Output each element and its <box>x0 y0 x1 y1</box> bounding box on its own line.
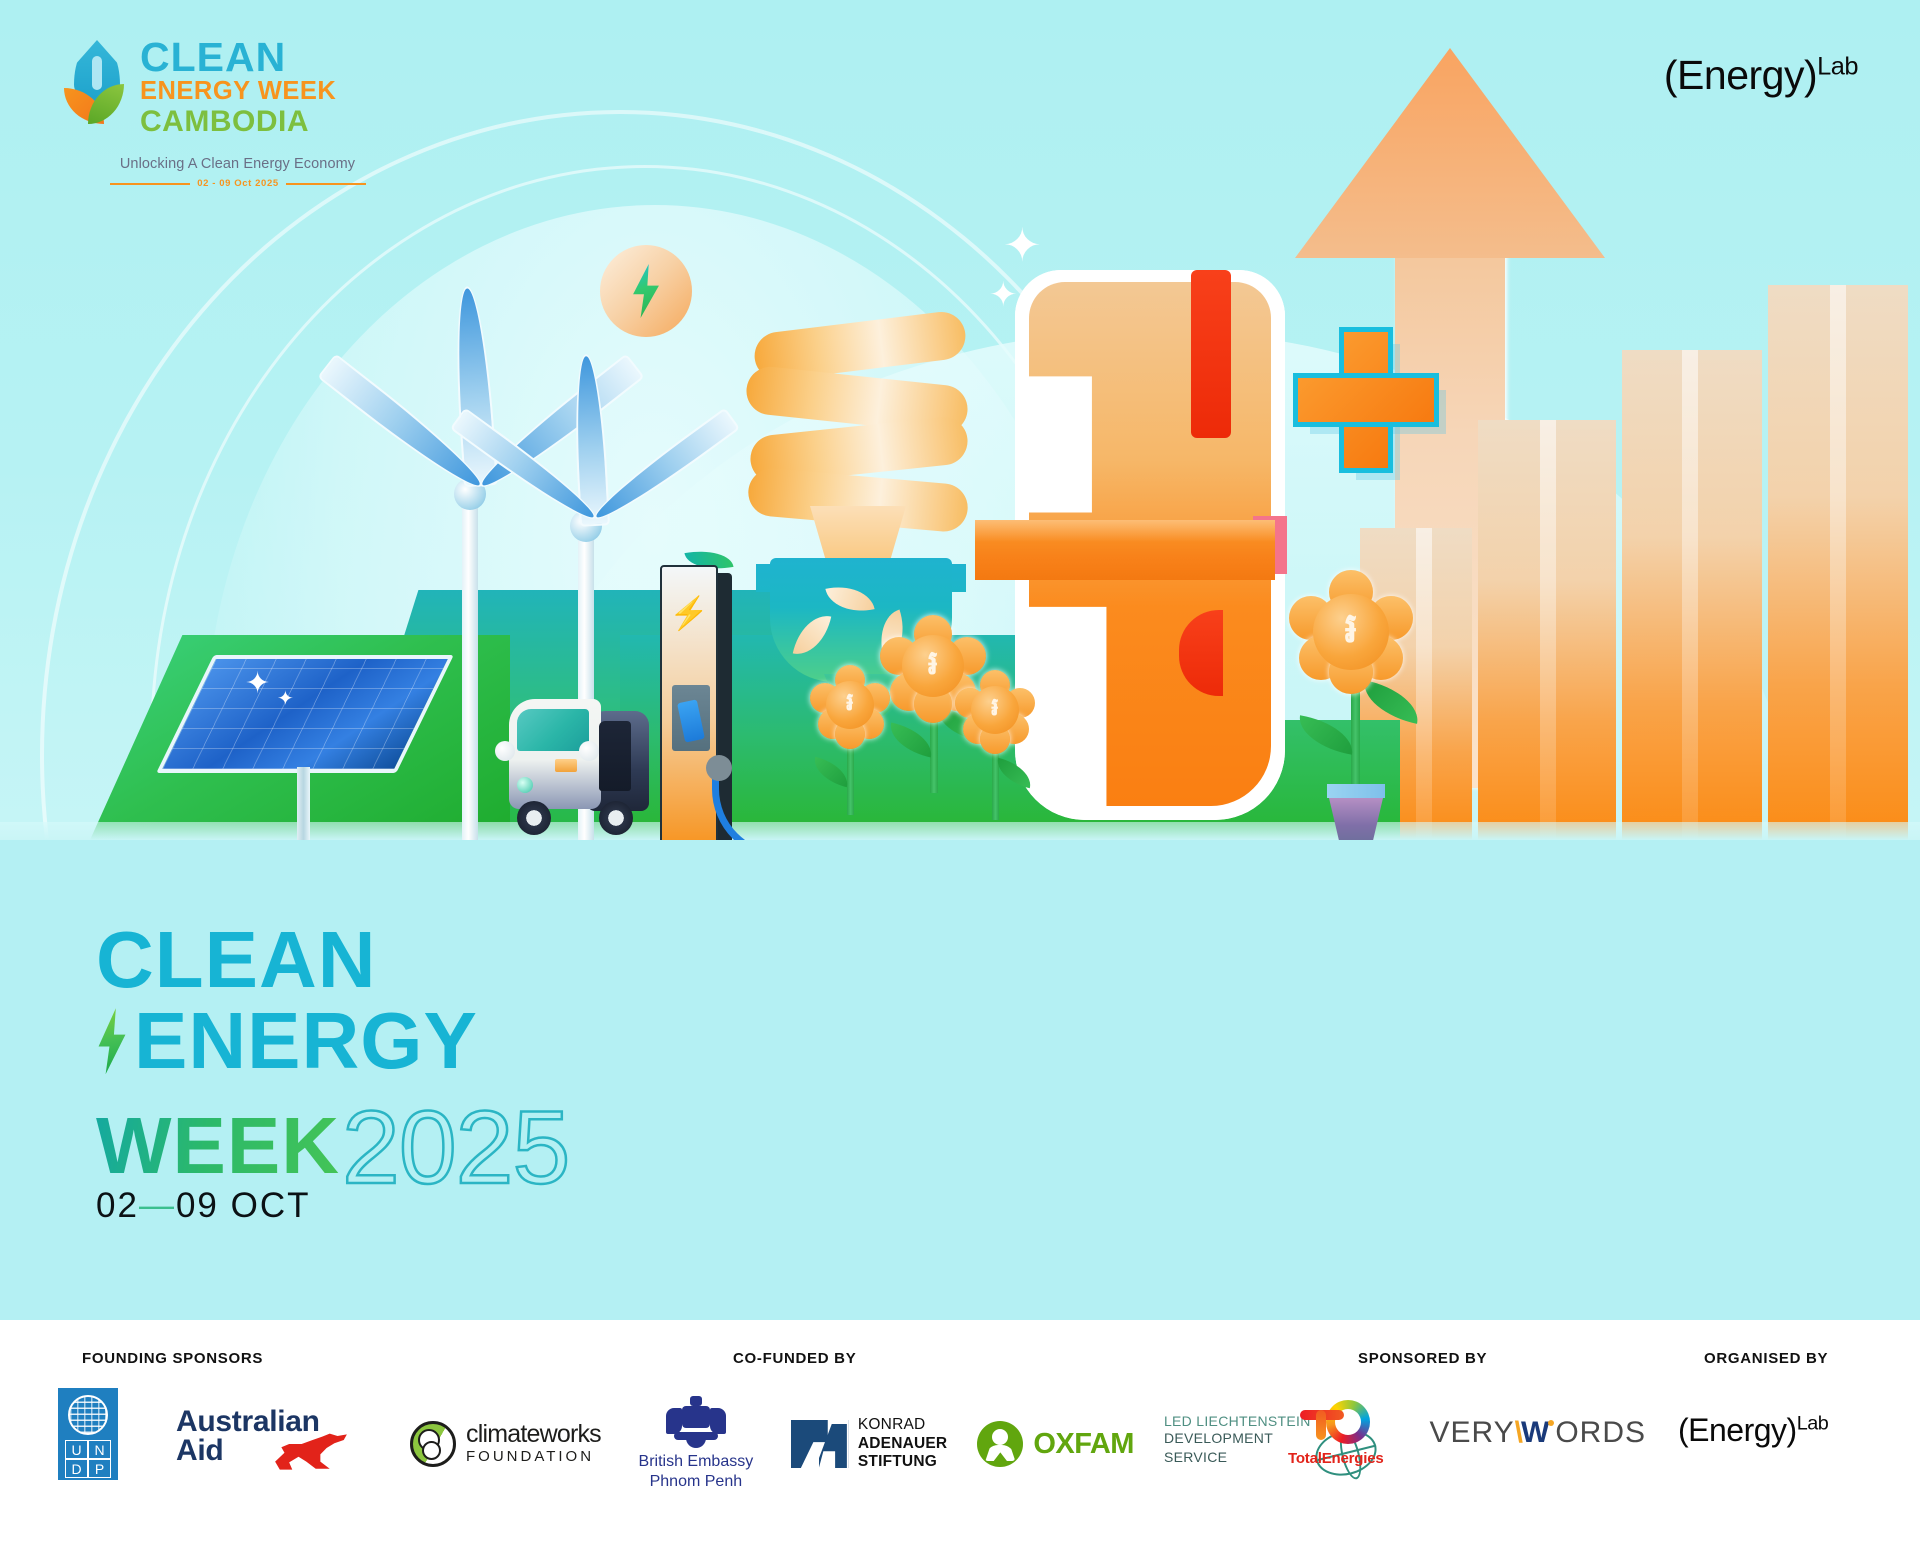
logo-date-rule-left <box>110 183 190 185</box>
un-globe-icon <box>68 1395 108 1435</box>
lightning-bolt-badge-icon <box>600 245 692 337</box>
british-embassy-logo[interactable]: British Embassy Phnom Penh <box>631 1396 761 1492</box>
date-dash: — <box>139 1186 176 1225</box>
footer-heading-founding-sponsors: FOUNDING SPONSORS <box>82 1350 263 1367</box>
title-line-clean: CLEAN <box>96 926 377 993</box>
electric-tuk-tuk-icon <box>495 685 660 835</box>
kas-mark-icon <box>791 1420 849 1468</box>
title-band: CLEAN ENERGY WEEK 2025 02—09 OCT UNLOCKI… <box>0 840 1920 1320</box>
leaf-flame-logo-icon <box>62 40 132 132</box>
title-line-energy: ENERGY <box>134 995 478 1087</box>
logo-line-energy-week: ENERGY WEEK <box>140 77 365 106</box>
sponsor-footer: FOUNDING SPONSORS U N D P Australian Ai <box>0 1320 1920 1550</box>
konrad-adenauer-stiftung-logo[interactable]: KONRAD ADENAUER STIFTUNG <box>791 1416 947 1473</box>
british-embassy-line-1: British Embassy <box>631 1452 761 1472</box>
climateworks-line-1: climateworks <box>466 1422 601 1447</box>
kas-line-1: KONRAD <box>858 1416 947 1435</box>
title-line-week: WEEK <box>96 1100 340 1192</box>
money-flower-icon: ៛ <box>810 665 892 815</box>
oxfam-person-icon <box>977 1421 1023 1467</box>
kas-line-3: STIFTUNG <box>858 1453 947 1472</box>
undp-letter-u: U <box>65 1440 88 1459</box>
energylab-logo-top-right[interactable]: (Energy)Lab <box>1664 52 1858 99</box>
footer-logos-organised-by: (Energy)Lab <box>1678 1412 1828 1449</box>
logo-date-text: 02 - 09 Oct 2025 <box>197 178 278 189</box>
climateworks-line-2: FOUNDATION <box>466 1447 601 1467</box>
totalenergies-wordmark: TotalEnergies <box>1288 1450 1383 1467</box>
logo-line-cambodia: CAMBODIA <box>140 106 365 138</box>
energylab-main-text: (Energy) <box>1664 52 1817 98</box>
energylab-logo-footer[interactable]: (Energy)Lab <box>1678 1412 1828 1449</box>
energylab-superscript-text: Lab <box>1817 52 1858 80</box>
undp-letter-n: N <box>88 1440 111 1459</box>
british-embassy-line-2: Phnom Penh <box>631 1472 761 1492</box>
energylab-footer-superscript: Lab <box>1797 1412 1829 1434</box>
royal-crest-icon <box>664 1396 728 1448</box>
solar-panel-icon: ✦ ✦ <box>185 655 445 840</box>
ev-charging-station-icon: ⚡ <box>660 565 730 840</box>
footer-logos-founding-sponsors: U N D P Australian Aid <box>58 1388 346 1480</box>
australian-aid-logo[interactable]: Australian Aid <box>176 1394 346 1474</box>
footer-heading-co-funded-by: CO-FUNDED BY <box>733 1350 856 1367</box>
verywords-part-3: ORDS <box>1555 1416 1646 1449</box>
lightning-bolt-icon <box>96 1008 128 1074</box>
event-title-block: CLEAN ENERGY WEEK 2025 02—09 OCT <box>96 926 656 1226</box>
undp-letter-d: D <box>65 1459 88 1478</box>
totalenergies-logo[interactable]: TotalEnergies <box>1288 1398 1383 1467</box>
logo-date-rule-right <box>286 183 366 185</box>
verywords-part-2: W <box>1521 1416 1547 1449</box>
oxfam-wordmark: OXFAM <box>1033 1428 1134 1461</box>
verywords-logo[interactable]: VERY\WORDS <box>1429 1416 1646 1450</box>
undp-logo[interactable]: U N D P <box>58 1388 118 1480</box>
title-year: 2025 <box>342 1089 569 1208</box>
undp-letter-p: P <box>88 1459 111 1478</box>
date-end: 09 OCT <box>176 1186 311 1225</box>
date-start: 02 <box>96 1186 139 1225</box>
footer-heading-sponsored-by: SPONSORED BY <box>1358 1350 1487 1367</box>
footer-logos-sponsored-by: TotalEnergies VERY\WORDS <box>1288 1398 1646 1467</box>
logo-tagline: Unlocking A Clean Energy Economy <box>110 156 365 172</box>
totalenergies-mark-icon <box>1300 1398 1372 1450</box>
logo-line-clean: CLEAN <box>140 38 365 77</box>
footer-heading-organised-by: ORGANISED BY <box>1704 1350 1828 1367</box>
logo-date-row: 02 - 09 Oct 2025 <box>110 178 366 189</box>
poster-root: ✦ ✦ ⚡ <box>0 0 1920 1550</box>
verywords-part-1: VERY <box>1429 1416 1514 1449</box>
money-flower-icon: ៛ <box>955 670 1037 820</box>
energylab-footer-main: (Energy) <box>1678 1412 1797 1448</box>
footer-logos-co-funded-by: climateworks FOUNDATION British Embassy … <box>410 1396 1377 1492</box>
australian-aid-line-1: Australian <box>176 1408 346 1437</box>
kas-line-2: ADENAUER <box>858 1435 947 1454</box>
climateworks-mark-icon <box>410 1421 456 1467</box>
verywords-dot-icon <box>1548 1420 1554 1426</box>
plus-sign-icon <box>1298 332 1434 468</box>
oxfam-logo[interactable]: OXFAM <box>977 1421 1134 1467</box>
potted-money-flower-icon: ៛ <box>1285 570 1435 840</box>
climateworks-logo[interactable]: climateworks FOUNDATION <box>410 1421 601 1467</box>
hero-illustration: ✦ ✦ ⚡ <box>0 0 1920 840</box>
clean-energy-week-cambodia-logo: CLEAN ENERGY WEEK CAMBODIA Unlocking A C… <box>62 38 362 188</box>
riel-currency-symbol-icon: ✦ ✦ <box>1015 270 1285 820</box>
